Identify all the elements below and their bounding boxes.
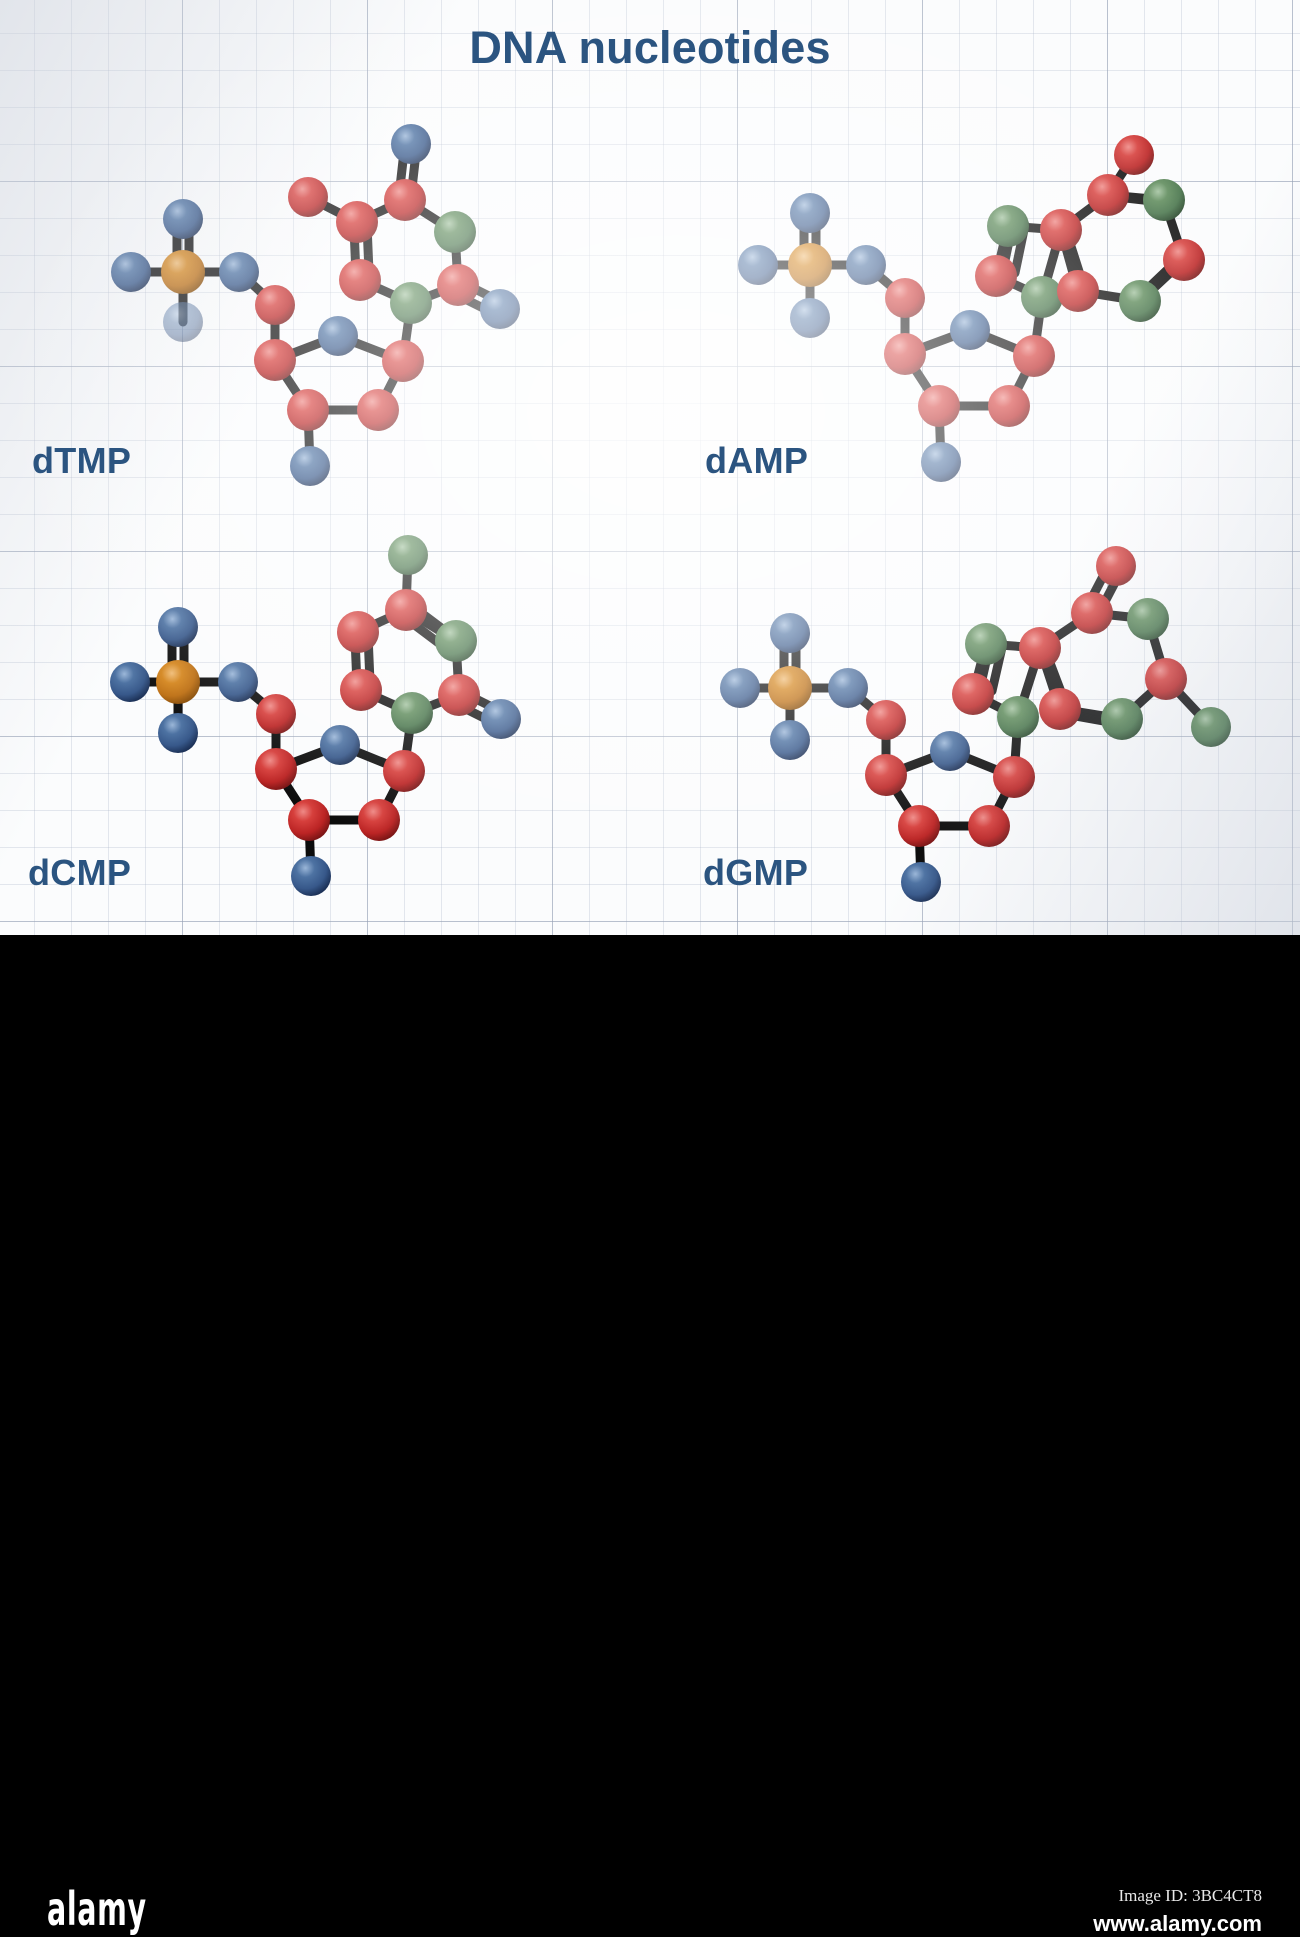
molecule-label-dtmp: dTMP (32, 440, 131, 482)
image-id-text: Image ID: 3BC4CT8 (1118, 1886, 1262, 1906)
alamy-url-text: www.alamy.com (1093, 1911, 1262, 1937)
page-title: DNA nucleotides (0, 22, 1300, 74)
alamy-logo: alamy (47, 1882, 147, 1936)
illustration-page: DNA nucleotides dTMP dAMP dCMP dGMP alam… (0, 0, 1300, 1018)
molecule-label-dcmp: dCMP (28, 852, 131, 894)
molecule-label-damp: dAMP (705, 440, 808, 482)
watermark-bar: alamy Image ID: 3BC4CT8 www.alamy.com (0, 935, 1300, 1018)
molecule-label-dgmp: dGMP (703, 852, 808, 894)
graph-paper-background (0, 0, 1300, 935)
